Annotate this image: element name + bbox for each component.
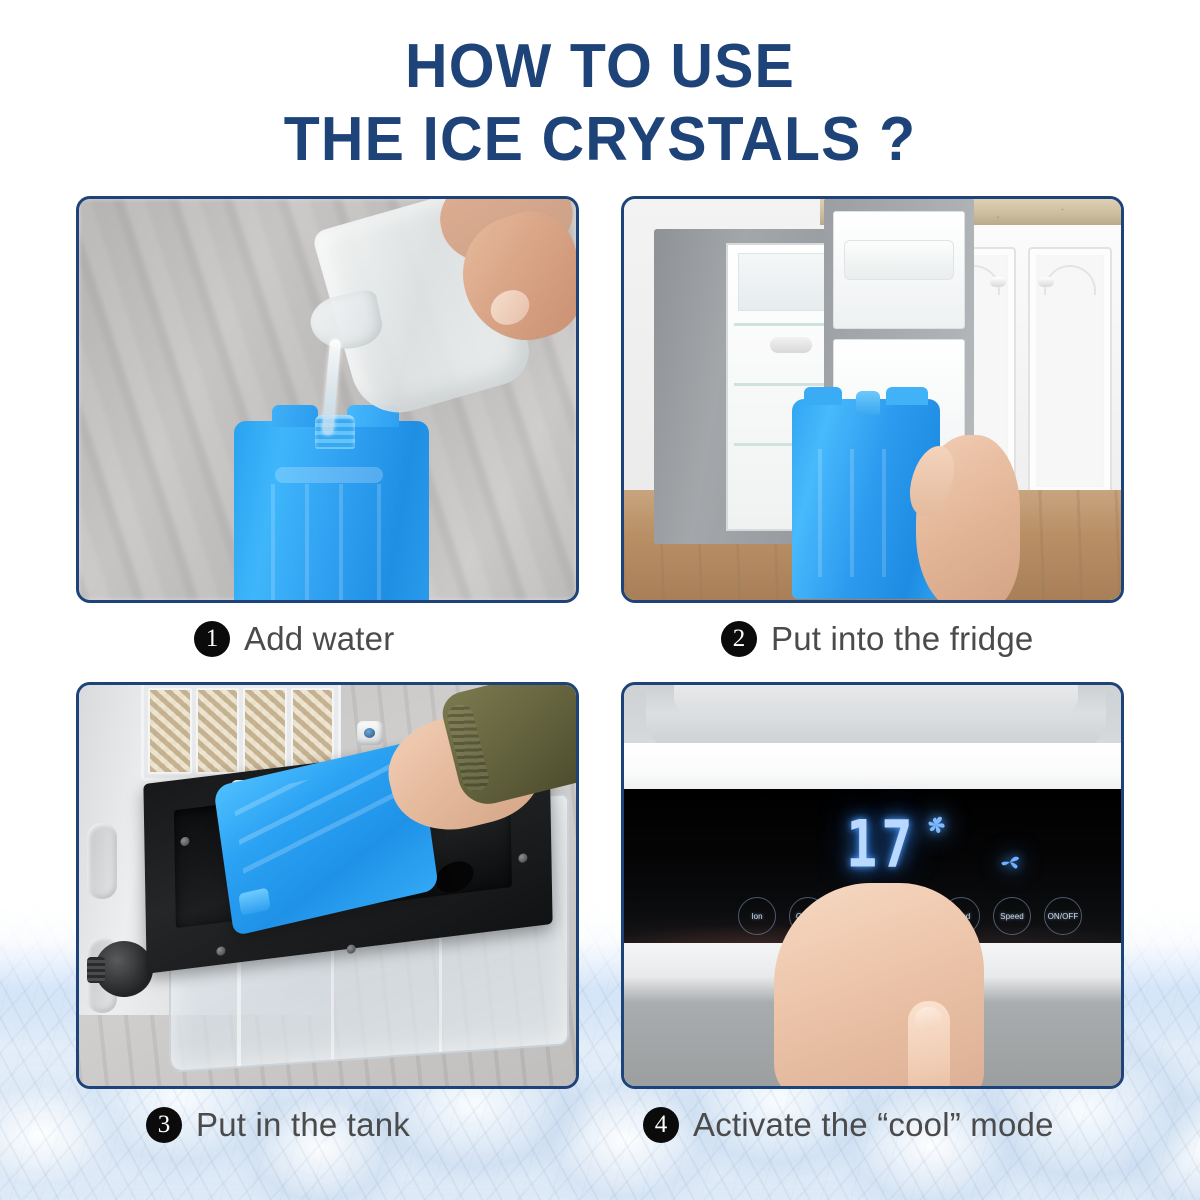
ice-pack-emboss (275, 467, 383, 483)
hand-pressing-button (774, 883, 984, 1089)
step-2-label: Put into the fridge (771, 620, 1033, 658)
cooler-white-bezel (624, 743, 1121, 795)
lid-screw (518, 853, 527, 863)
ice-pack-ribs (808, 449, 924, 577)
step-2-badge: 2 (721, 621, 757, 657)
fan-blade-icon (998, 851, 1022, 873)
step-1-caption: 1 Add water (76, 603, 579, 675)
ice-pack-ribs (259, 484, 404, 603)
step-2-photo (621, 196, 1124, 603)
step-1-label: Add water (244, 620, 394, 658)
steps-row-bottom: 3 Put in the tank 17 (76, 682, 1124, 1161)
filter-cell (196, 688, 240, 774)
cooler-side-handle (87, 823, 117, 899)
step-card-1: 1 Add water (76, 196, 579, 675)
button-speed[interactable]: Speed (993, 897, 1031, 935)
button-ion[interactable]: Ion (738, 897, 776, 935)
ice-pack-cap (856, 391, 880, 415)
step-3-caption: 3 Put in the tank (76, 1089, 579, 1161)
fridge-door-panel-top (833, 211, 965, 329)
step-3-photo (76, 682, 579, 1089)
step-4-label: Activate the “cool” mode (693, 1106, 1054, 1144)
lid-screw (216, 946, 225, 956)
step-1-photo (76, 196, 579, 603)
cooler-top-lid (646, 682, 1106, 747)
cabinet-knob-left (990, 277, 1006, 287)
caster-wheel (95, 941, 153, 997)
step-card-3: 3 Put in the tank (76, 682, 579, 1161)
title-line-2: THE ICE CRYSTALS ? (30, 109, 1170, 171)
cabinet-door-right (1028, 247, 1112, 495)
led-temperature-display: 17 (846, 808, 917, 883)
step-4-caption: 4 Activate the “cool” mode (621, 1089, 1124, 1161)
page-title: HOW TO USE THE ICE CRYSTALS ? (0, 36, 1200, 171)
button-on-off[interactable]: ON/OFF (1044, 897, 1082, 935)
ice-pack-cap (315, 415, 355, 449)
steps-row-top: 1 Add water (76, 196, 1124, 675)
filter-cell (243, 688, 287, 774)
pinwheel-icon (924, 813, 948, 837)
filter-cell (148, 688, 192, 774)
step-1-badge: 1 (194, 621, 230, 657)
cabinet-knob-right (1038, 277, 1054, 287)
step-2-caption: 2 Put into the fridge (621, 603, 1124, 675)
step-card-2: 2 Put into the fridge (621, 196, 1124, 675)
tank-latch-clip (357, 721, 383, 745)
step-card-4: 17 (621, 682, 1124, 1161)
title-line-1: HOW TO USE (30, 36, 1170, 98)
index-finger (908, 1001, 950, 1089)
step-3-badge: 3 (146, 1107, 182, 1143)
fridge-thermostat-dial (770, 337, 812, 353)
step-4-photo: 17 (621, 682, 1124, 1089)
door-bin (844, 240, 954, 280)
step-4-badge: 4 (643, 1107, 679, 1143)
step-3-label: Put in the tank (196, 1106, 410, 1144)
steps-grid: 1 Add water (76, 196, 1124, 1161)
